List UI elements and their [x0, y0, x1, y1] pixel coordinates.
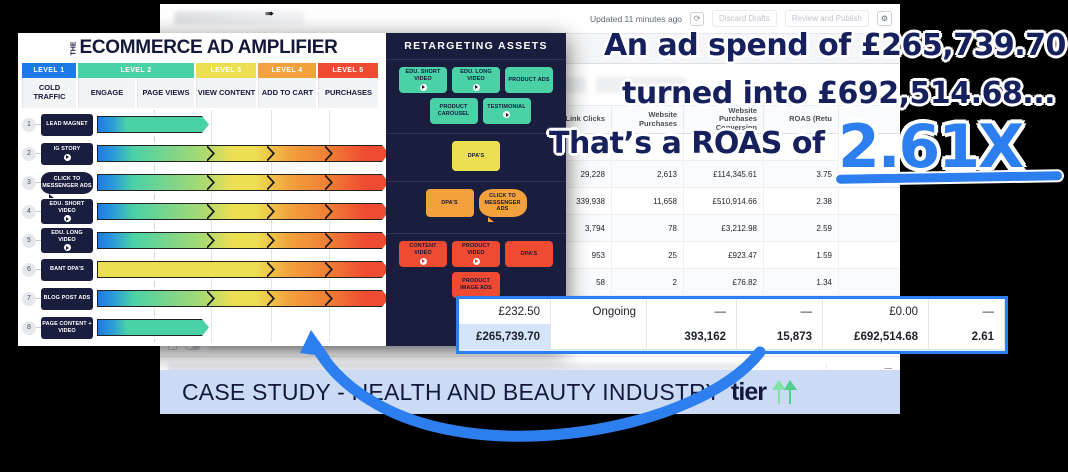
retarget-chip-edu-long-video[interactable]: EDU. LONG VIDEO: [452, 67, 500, 93]
stage-page-views: PAGE VIEWS: [137, 78, 194, 108]
updated-status: Updated 11 minutes ago: [590, 14, 682, 24]
retargeting-section-level4: DPA’S CLICK TO MESSENGER ADS: [386, 181, 566, 233]
asset-chip-edu-long-video: EDU. LONG VIDEO: [41, 228, 93, 254]
cell-roas: 2.38: [764, 188, 839, 214]
retarget-chip-product-video[interactable]: PRODUCT VIDEO: [452, 241, 500, 267]
callout-total-conversion: £692,514.68: [823, 324, 929, 349]
cell-website-purchases: 11,658: [612, 188, 684, 214]
funnel-bar: [97, 319, 209, 336]
funnel-track: [97, 110, 382, 139]
funnel-track: [97, 284, 382, 313]
callout-total-link-clicks: 393,162: [647, 324, 737, 349]
funnel-bar: [97, 116, 209, 133]
cell-conversion-value: £76.82: [684, 269, 764, 295]
retarget-chip-product-image-ads[interactable]: PRODUCT IMAGE ADS: [452, 272, 500, 298]
row-number: 8: [22, 321, 36, 335]
row-number: 3: [22, 176, 36, 190]
cell-website-purchases: 78: [612, 215, 684, 241]
callout-total-amount-spent: £265,739.70: [459, 324, 551, 349]
funnel-chart-panel: THE ECOMMERCE AD AMPLIFIER LEVEL 1 LEVEL…: [18, 33, 386, 346]
play-icon: [473, 84, 480, 91]
retarget-chip-dpas-orange[interactable]: DPA’S: [426, 189, 474, 217]
callout-total-purchases: 15,873: [737, 324, 823, 349]
callout-total-roas: 2.61: [929, 324, 1005, 349]
cell-roas: 1.34: [764, 269, 839, 295]
cell-roas: 1.59: [764, 242, 839, 268]
callout-total-ends: [551, 324, 647, 349]
double-up-arrow-icon: [769, 378, 799, 406]
discard-drafts-button[interactable]: Discard Drafts: [712, 10, 777, 27]
asset-chip-edu-short-video: EDU. SHORT VIDEO: [41, 199, 93, 225]
play-icon: [420, 84, 427, 91]
funnel-track: [97, 168, 382, 197]
review-and-publish-button[interactable]: Review and Publish: [785, 10, 869, 27]
funnel-row[interactable]: 2 IG STORY: [22, 139, 382, 168]
stage-add-to-cart: ADD TO CART: [258, 78, 316, 108]
cell-conversion-value: £114,345.61: [684, 161, 764, 187]
account-name-blurred: [174, 11, 304, 25]
asset-chip-bant-dpas: BANT DPA’S: [41, 259, 93, 281]
retarget-chip-edu-short-video[interactable]: EDU. SHORT VIDEO: [399, 67, 447, 93]
level-badge-4: LEVEL 4: [258, 63, 316, 78]
cell-conversion-value: £3,212.98: [684, 215, 764, 241]
headline-line-1: An ad spend of £265,739.70: [604, 28, 1066, 63]
refresh-icon[interactable]: ⟳: [690, 12, 704, 26]
infographic-title: THE ECOMMERCE AD AMPLIFIER: [18, 33, 386, 63]
row-number: 1: [22, 118, 36, 132]
funnel-row[interactable]: 3 CLICK TO MESSENGER ADS: [22, 168, 382, 197]
gear-icon[interactable]: ⚙: [877, 11, 892, 26]
play-icon: [64, 215, 71, 222]
funnel-bar: [97, 174, 389, 191]
funnel-bar: [97, 203, 389, 220]
funnel-rows: 1 LEAD MAGNET 2 IG STORY: [18, 108, 386, 346]
play-icon: [473, 258, 480, 265]
cell-website-purchases: 25: [612, 242, 684, 268]
cell-conversion-value: £923.47: [684, 242, 764, 268]
retargeting-section-level3: DPA’S: [386, 133, 566, 181]
callout-conversion-ongoing: £0.00: [823, 299, 929, 324]
funnel-bar: [97, 232, 389, 249]
funnel-row[interactable]: 5 EDU. LONG VIDEO: [22, 226, 382, 255]
title-the: THE: [70, 41, 77, 55]
totals-callout-box: £232.50 Ongoing — — £0.00 — £265,739.70 …: [456, 296, 1008, 354]
cell-conversion-value: £510,914.66: [684, 188, 764, 214]
callout-ends-ongoing: Ongoing: [551, 299, 647, 324]
funnel-row[interactable]: 6 BANT DPA’S: [22, 255, 382, 284]
play-icon: [64, 154, 71, 161]
asset-chip-click-to-messenger: CLICK TO MESSENGER ADS: [41, 172, 93, 194]
stage-view-content: VIEW CONTENT: [196, 78, 256, 108]
row-number: 5: [22, 234, 36, 248]
retarget-chip-product-ads[interactable]: PRODUCT ADS: [505, 67, 553, 93]
cell-roas: 3.75: [764, 161, 839, 187]
cell-roas: 2.59: [764, 215, 839, 241]
title-main: ECOMMERCE AD AMPLIFIER: [80, 37, 338, 59]
screenshot-root: Updated 11 minutes ago ⟳ Discard Drafts …: [0, 0, 1068, 472]
stage-header-row: COLD TRAFFIC ENGAGE PAGE VIEWS VIEW CONT…: [18, 78, 386, 108]
retarget-chip-click-to-messenger[interactable]: CLICK TO MESSENGER ADS: [479, 189, 527, 217]
play-icon: [420, 258, 427, 265]
callout-bottom-strip: [459, 349, 1005, 354]
callout-amount-ongoing: £232.50: [459, 299, 551, 324]
callout-row-ongoing: £232.50 Ongoing — — £0.00 —: [459, 299, 1005, 324]
row-number: 4: [22, 205, 36, 219]
funnel-bar: [97, 145, 389, 162]
row-number: 7: [22, 292, 36, 306]
retargeting-section-level5: CONTENT VIDEO PRODUCT VIDEO DPA’S PRODUC…: [386, 233, 566, 305]
play-icon: [64, 244, 71, 251]
retarget-chip-content-video[interactable]: CONTENT VIDEO: [399, 241, 447, 267]
funnel-row[interactable]: 1 LEAD MAGNET: [22, 110, 382, 139]
funnel-row[interactable]: 7 BLOG POST ADS: [22, 284, 382, 313]
retarget-chip-dpas-yellow[interactable]: DPA’S: [452, 141, 500, 171]
level-badge-2: LEVEL 2: [78, 63, 194, 78]
headline-line-2: turned into £692,514.68...: [622, 76, 1055, 111]
level-badge-3: LEVEL 3: [196, 63, 256, 78]
level-badge-1: LEVEL 1: [22, 63, 76, 78]
asset-chip-page-content-video: PAGE CONTENT + VIDEO: [41, 317, 93, 339]
retarget-chip-testimonial[interactable]: TESTIMONIAL: [483, 98, 531, 124]
funnel-track: [97, 139, 382, 168]
stage-cold-traffic: COLD TRAFFIC: [22, 78, 76, 108]
tier-wordmark: tier: [731, 378, 766, 407]
asset-chip-lead-magnet: LEAD MAGNET: [41, 114, 93, 136]
cell-website-purchases: 2,613: [612, 161, 684, 187]
row-number: 2: [22, 147, 36, 161]
retargeting-title: RETARGETING ASSETS: [386, 33, 566, 59]
tier-logo: tier: [731, 378, 799, 407]
callout-purchases-ongoing: —: [737, 299, 823, 324]
funnel-row[interactable]: 8 PAGE CONTENT + VIDEO: [22, 313, 382, 342]
case-study-text: CASE STUDY - HEALTH AND BEAUTY INDUSTRY: [182, 379, 721, 406]
retarget-chip-dpas-red[interactable]: DPA’S: [505, 241, 553, 267]
mouse-cursor-icon: ➠: [265, 7, 274, 20]
funnel-bar: [97, 290, 389, 307]
callout-clicks-ongoing: —: [647, 299, 737, 324]
funnel-track: [97, 255, 382, 284]
funnel-track: [97, 226, 382, 255]
funnel-track: [97, 197, 382, 226]
level-badge-5: LEVEL 5: [318, 63, 378, 78]
retarget-chip-product-carousel[interactable]: PRODUCT CAROUSEL: [430, 98, 478, 124]
callout-row-total: £265,739.70 393,162 15,873 £692,514.68 2…: [459, 324, 1005, 349]
asset-chip-ig-story: IG STORY: [41, 143, 93, 165]
funnel-track: [97, 313, 382, 342]
row-number: 6: [22, 263, 36, 277]
stage-engage: ENGAGE: [78, 78, 135, 108]
case-study-caption-bar: CASE STUDY - HEALTH AND BEAUTY INDUSTRY …: [160, 370, 900, 414]
cell-website-purchases: 2: [612, 269, 684, 295]
funnel-row[interactable]: 4 EDU. SHORT VIDEO: [22, 197, 382, 226]
funnel-bar: [97, 261, 389, 278]
asset-chip-blog-post-ads: BLOG POST ADS: [41, 288, 93, 310]
retargeting-section-level2: EDU. SHORT VIDEO EDU. LONG VIDEO PRODUCT…: [386, 59, 566, 133]
callout-roas-ongoing: —: [929, 299, 1005, 324]
stage-purchases: PURCHASES: [318, 78, 378, 108]
level-header-row: LEVEL 1 LEVEL 2 LEVEL 3 LEVEL 4 LEVEL 5: [18, 63, 386, 78]
headline-line-3: That’s a ROAS of: [549, 126, 825, 161]
play-icon: [503, 111, 510, 118]
